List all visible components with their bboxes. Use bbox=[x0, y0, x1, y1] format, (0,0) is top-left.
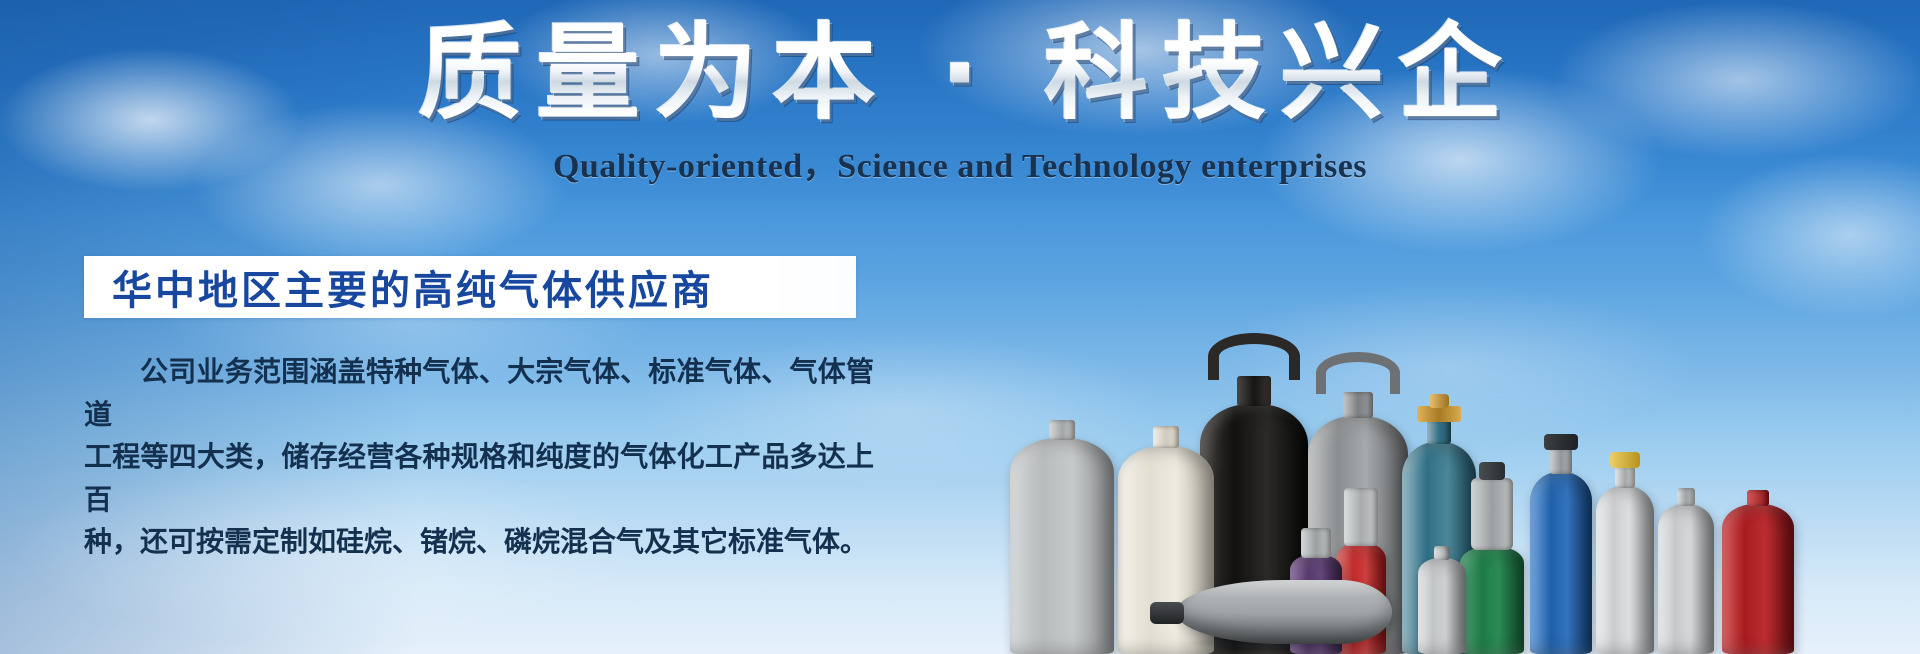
cylinder-body bbox=[1460, 546, 1524, 654]
highlight-box: 华中地区主要的高纯气体供应商 bbox=[84, 256, 856, 318]
description-paragraph: 公司业务范围涵盖特种气体、大宗气体、标准气体、气体管道 工程等四大类，储存经营各… bbox=[84, 352, 874, 565]
headline-block: 质量为本 · 科技兴企 bbox=[0, 18, 1920, 128]
cylinder-valve bbox=[1479, 462, 1505, 480]
cylinder-neck bbox=[1747, 490, 1769, 506]
cylinder-handle bbox=[1316, 352, 1400, 394]
cylinder-handle bbox=[1208, 333, 1300, 380]
blue-slim-cylinder bbox=[1530, 419, 1592, 654]
headline-text: 质量为本 · 科技兴企 bbox=[394, 18, 1526, 128]
cylinder-neck bbox=[1237, 376, 1271, 406]
cylinder-valve bbox=[1417, 406, 1461, 422]
cylinder-neck bbox=[1343, 392, 1373, 418]
hero-banner: 质量为本 · 科技兴企 Quality-oriented，Science and… bbox=[0, 0, 1920, 654]
aluminium-cylinder bbox=[1596, 429, 1654, 654]
paragraph-line: 种，还可按需定制如硅烷、锗烷、磷烷混合气及其它标准气体。 bbox=[84, 522, 874, 565]
cylinder-neck bbox=[1550, 448, 1572, 474]
cylinder-body bbox=[1176, 580, 1392, 644]
cylinder-neck bbox=[1434, 546, 1450, 560]
cylinder-body bbox=[1658, 504, 1714, 654]
cylinder-valve bbox=[1610, 452, 1640, 468]
cylinder-body bbox=[1010, 438, 1114, 654]
cylinder-body bbox=[1418, 558, 1466, 654]
aluminium-cylinder bbox=[1658, 469, 1714, 654]
cylinder-neck bbox=[1677, 488, 1695, 506]
cylinder-valve bbox=[1544, 434, 1578, 450]
highlight-box-text: 华中地区主要的高纯气体供应商 bbox=[84, 258, 714, 316]
cylinder-body bbox=[1596, 486, 1654, 654]
green-small-cylinder bbox=[1460, 449, 1524, 654]
cylinder-neck bbox=[1153, 426, 1179, 448]
paragraph-line: 工程等四大类，储存经营各种规格和纯度的气体化工产品多达上百 bbox=[84, 437, 874, 522]
cylinder-neck bbox=[1344, 488, 1378, 546]
cylinder-valve bbox=[1150, 602, 1184, 624]
lying-grey-cylinder bbox=[1150, 576, 1400, 648]
gas-cylinder-group-photo bbox=[1140, 254, 1920, 654]
cylinder-neck bbox=[1301, 528, 1331, 558]
cylinder-neck bbox=[1615, 466, 1635, 488]
cylinder-neck bbox=[1471, 478, 1513, 550]
cylinder-neck bbox=[1427, 420, 1451, 444]
subtitle-text: Quality-oriented，Science and Technology … bbox=[0, 138, 1920, 187]
cylinder-valve-knob bbox=[1429, 394, 1449, 408]
cylinder-body bbox=[1722, 504, 1794, 654]
cylinder-body bbox=[1530, 472, 1592, 654]
paragraph-line: 公司业务范围涵盖特种气体、大宗气体、标准气体、气体管道 bbox=[84, 352, 874, 437]
aluminium-cylinder bbox=[1418, 536, 1466, 654]
light-grey-cylinder bbox=[1010, 404, 1114, 654]
dark-red-cylinder bbox=[1722, 474, 1794, 654]
cylinder-neck bbox=[1049, 420, 1075, 440]
